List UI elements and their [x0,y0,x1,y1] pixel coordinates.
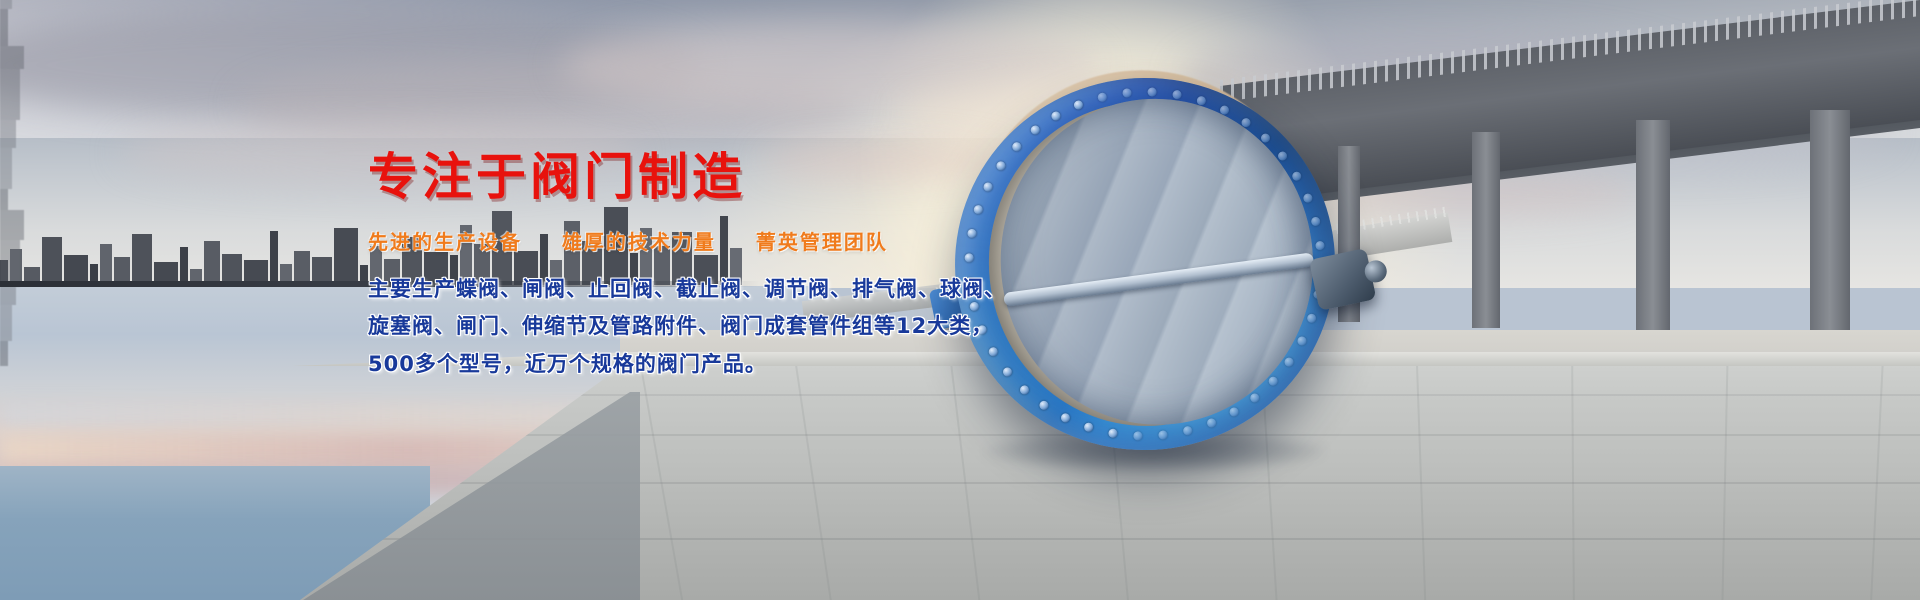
flange-bolt [1311,217,1321,227]
subtitle-part-1: 先进的生产设备 [368,230,522,254]
skyline-building [294,251,310,285]
flange-bolt [1229,407,1239,417]
flange-bolt [1097,92,1107,102]
skyline-building [0,189,8,210]
flange-bolt [1122,88,1132,98]
flange-bolt [1278,151,1288,161]
flange-bolt [1051,111,1061,121]
flange-bolt [1020,385,1030,395]
flange-bolt [1261,133,1271,143]
flange-bolt [1241,118,1251,128]
flange-bolt [1108,428,1118,438]
bridge-pier [1810,110,1850,340]
skyline-building [132,234,152,285]
skyline-building [0,341,8,366]
description-block: 主要生产蝶阀、闸阀、止回阀、截止阀、调节阀、排气阀、球阀、 旋塞阀、闸门、伸缩节… [368,271,988,383]
skyline-building [0,305,12,341]
flange-bolt [1158,430,1168,440]
skyline-building [0,46,24,69]
flange-bolt [1297,336,1307,346]
flange-bolt [1133,431,1143,441]
flange-bolt [988,347,998,357]
page-title: 专注于阀门制造 [368,150,988,204]
description-line: 500多个型号，近万个规格的阀门产品。 [368,346,988,383]
flange-bolt [1207,418,1217,428]
skyline-building [0,287,16,305]
description-line: 主要生产蝶阀、闸阀、止回阀、截止阀、调节阀、排气阀、球阀、 [368,271,988,308]
skyline-building [100,244,112,285]
flange-bolt [1012,142,1022,152]
flange-bolt [1003,367,1013,377]
flange-bolt [1307,313,1317,323]
bridge-pier [1636,120,1670,335]
flange-bolt [1030,125,1040,135]
flange-bolt [1039,400,1049,410]
valve-flange-bolts [937,59,1354,469]
skyline-building [334,228,358,285]
promo-banner: 专注于阀门制造 先进的生产设备 雄厚的技术力量 菁英管理团队 主要生产蝶阀、闸阀… [0,0,1920,600]
description-line: 旋塞阀、闸门、伸缩节及管路附件、阀门成套管件组等12大类， [368,308,988,345]
flange-bolt [1220,105,1230,115]
flange-bolt [1147,87,1157,97]
skyline-building [0,210,24,240]
flange-bolt [1172,90,1182,100]
flange-bolt [1061,413,1071,423]
subtitle-row: 先进的生产设备 雄厚的技术力量 菁英管理团队 [368,226,988,255]
flange-bolt [996,161,1006,171]
flange-bolt [1250,393,1260,403]
flange-bolt [1303,193,1313,203]
bridge-pier [1472,132,1500,328]
butterfly-valve-product [937,59,1354,469]
subtitle-part-3: 菁英管理团队 [756,230,888,254]
subtitle-part-2: 雄厚的技术力量 [562,230,716,254]
paving-seam [1571,360,1575,600]
flange-bolt [1268,376,1278,386]
skyline-building [270,231,278,285]
skyline-building [42,237,62,285]
paving-seam [1721,360,1728,600]
paving-seam [794,360,831,600]
flange-bolt [1183,426,1193,436]
skyline-building [180,247,188,285]
paving-seam [1416,360,1426,600]
marketing-copy: 专注于阀门制造 先进的生产设备 雄厚的技术力量 菁英管理团队 主要生产蝶阀、闸阀… [368,150,988,383]
flange-bolt [1196,96,1206,106]
skyline-building [0,0,12,9]
skyline-building [0,120,16,148]
flange-bolt [1315,241,1325,251]
flange-bolt [1284,357,1294,367]
skyline-building [0,148,12,189]
flange-bolt [1084,422,1094,432]
skyline-building [0,69,20,120]
paving-seam [1870,360,1884,600]
flange-bolt [1292,171,1302,181]
skyline-building [0,9,8,47]
skyline-building [204,241,220,285]
flange-bolt [1073,100,1083,110]
paving-seam [639,360,683,600]
